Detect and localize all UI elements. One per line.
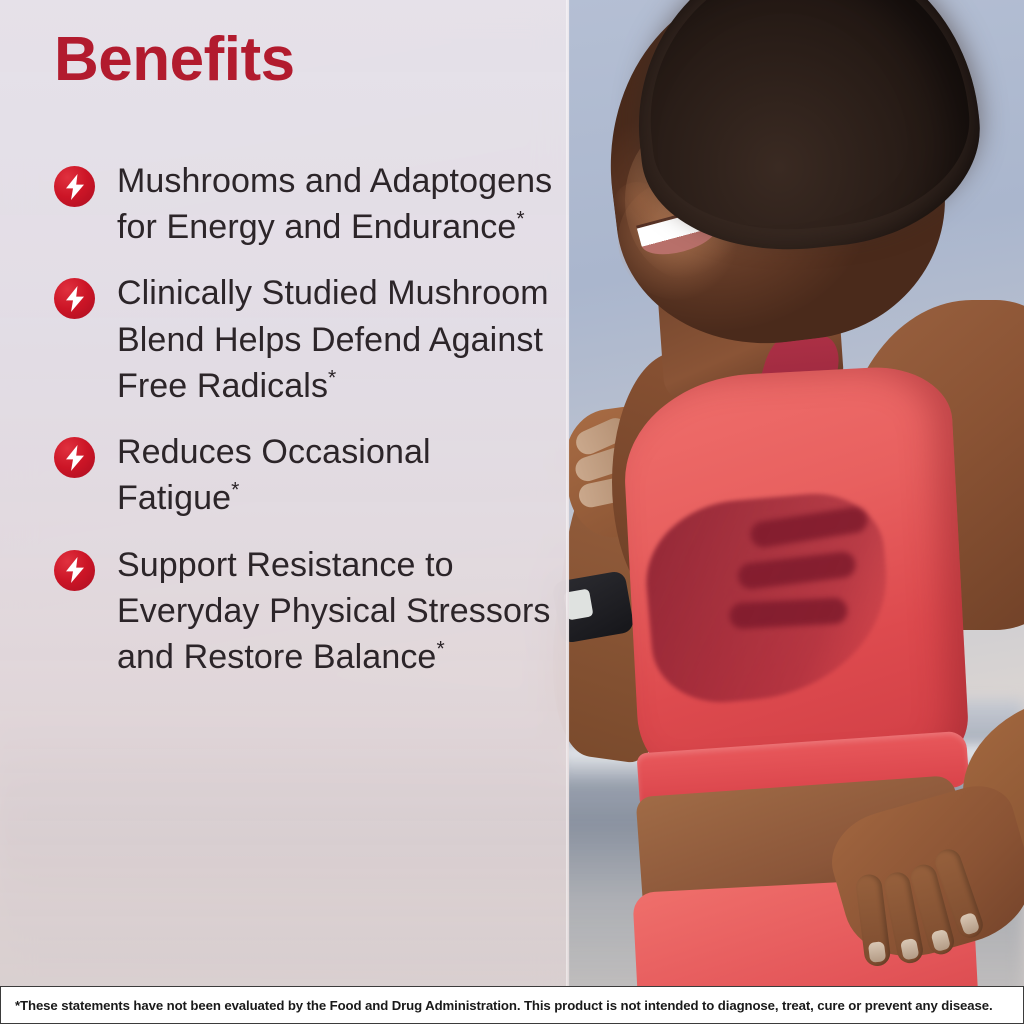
fda-disclaimer: *These statements have not been evaluate… — [0, 986, 1024, 1024]
product-benefits-graphic: Benefits Mushrooms and Adaptogens for En… — [0, 0, 1024, 1024]
list-item: Reduces Occasional Fatigue* — [0, 429, 560, 541]
lightning-bolt-icon — [54, 550, 95, 591]
asterisk-marker: * — [436, 638, 444, 661]
benefits-list: Mushrooms and Adaptogens for Energy and … — [0, 158, 560, 700]
list-item-label: Support Resistance to Everyday Physical … — [117, 542, 557, 681]
list-item: Mushrooms and Adaptogens for Energy and … — [0, 158, 560, 270]
lightning-bolt-icon — [54, 437, 95, 478]
list-item-label: Reduces Occasional Fatigue* — [117, 429, 557, 521]
asterisk-marker: * — [328, 367, 336, 390]
list-item: Clinically Studied Mushroom Blend Helps … — [0, 270, 560, 429]
asterisk-marker: * — [231, 479, 239, 502]
asterisk-marker: * — [516, 208, 524, 231]
list-item-label: Clinically Studied Mushroom Blend Helps … — [117, 270, 557, 409]
list-item: Support Resistance to Everyday Physical … — [0, 542, 560, 701]
benefits-content: Benefits Mushrooms and Adaptogens for En… — [0, 0, 569, 986]
lightning-bolt-icon — [54, 166, 95, 207]
list-item-label: Mushrooms and Adaptogens for Energy and … — [117, 158, 557, 250]
lightning-bolt-icon — [54, 278, 95, 319]
page-title: Benefits — [54, 27, 295, 92]
